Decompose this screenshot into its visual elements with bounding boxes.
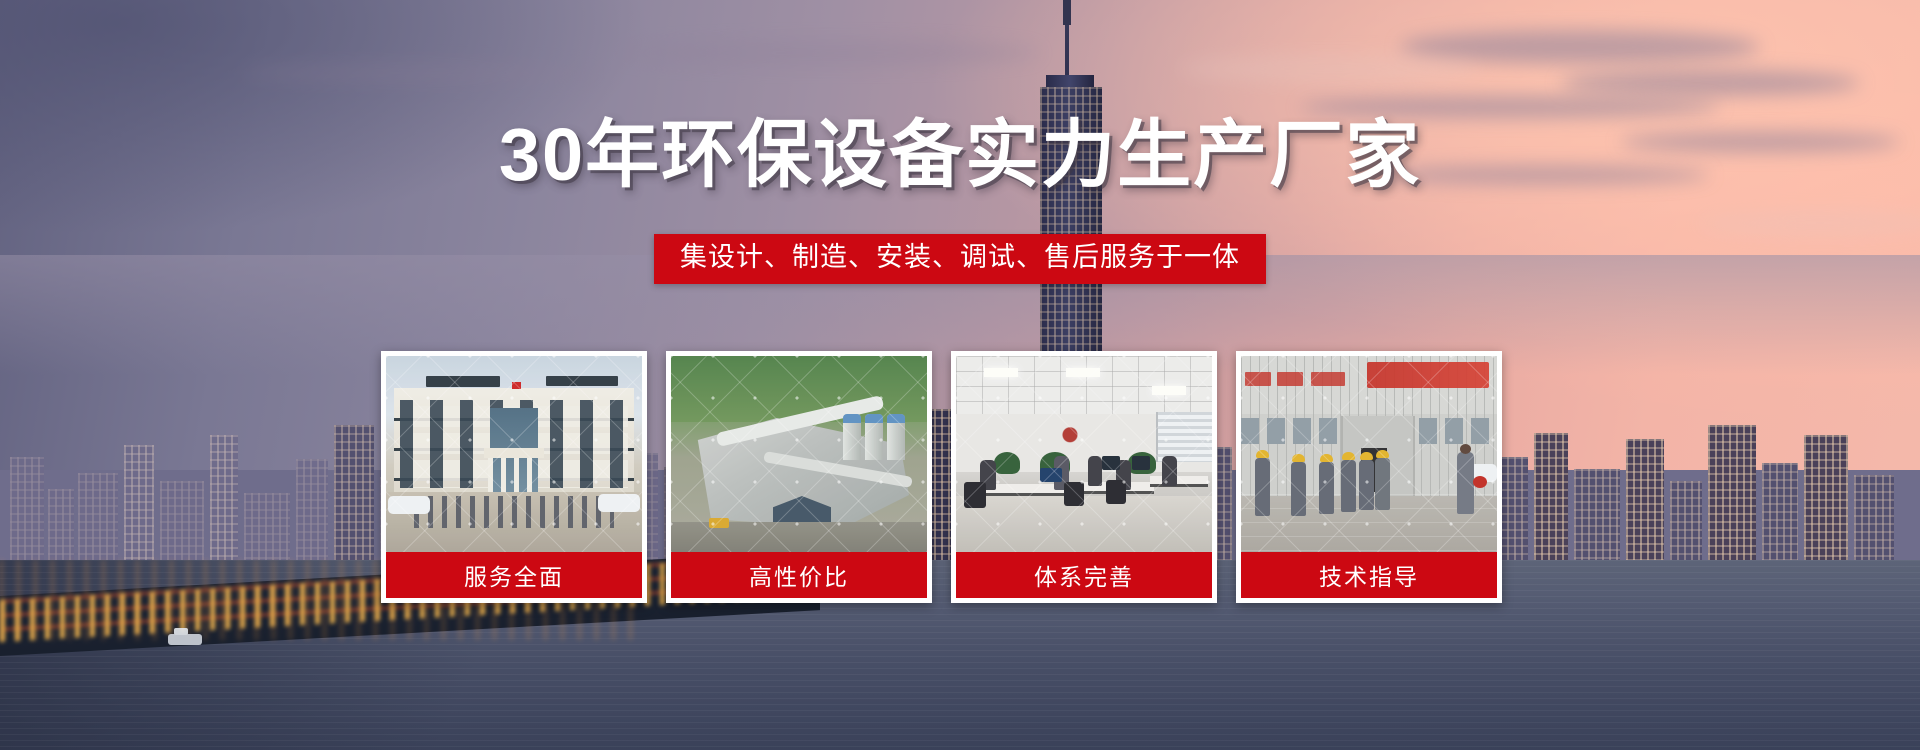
card-photo-industrial-plant — [671, 356, 927, 552]
excavator — [709, 518, 729, 528]
card-label: 体系完善 — [956, 552, 1212, 598]
card-label: 高性价比 — [671, 552, 927, 598]
wall-logo — [1052, 418, 1088, 446]
cloud — [1400, 30, 1760, 64]
cloud — [1180, 54, 1480, 84]
car — [598, 494, 640, 512]
tower-spire-base — [1063, 0, 1071, 25]
page-title: 30年环保设备实力生产厂家 — [0, 118, 1920, 192]
window-blinds — [1156, 412, 1212, 462]
boat — [168, 634, 202, 645]
building-phone-text — [546, 376, 618, 386]
card-label: 技术指导 — [1241, 552, 1497, 598]
factory-sign-text — [1367, 362, 1489, 388]
red-helmet — [1473, 476, 1487, 488]
subtitle-banner: 集设计、制造、安装、调试、售后服务于一体 — [654, 234, 1266, 284]
cloud — [240, 62, 600, 84]
feature-card[interactable]: 体系完善 — [951, 351, 1217, 603]
feature-card[interactable]: 高性价比 — [666, 351, 932, 603]
feature-card[interactable]: 技术指导 — [1236, 351, 1502, 603]
flag-icon — [512, 382, 521, 389]
feature-card-list: 服务全面 高性价比 — [381, 351, 1523, 603]
cloud — [1560, 70, 1860, 96]
card-photo-office-interior — [956, 356, 1212, 552]
card-photo-factory-workers — [1241, 356, 1497, 552]
hero-banner: 30年环保设备实力生产厂家 集设计、制造、安装、调试、售后服务于一体 — [0, 0, 1920, 750]
card-photo-headquarters — [386, 356, 642, 552]
car — [388, 496, 430, 514]
cloud — [620, 40, 1040, 66]
feature-card[interactable]: 服务全面 — [381, 351, 647, 603]
building-sign-text — [426, 376, 500, 387]
card-label: 服务全面 — [386, 552, 642, 598]
